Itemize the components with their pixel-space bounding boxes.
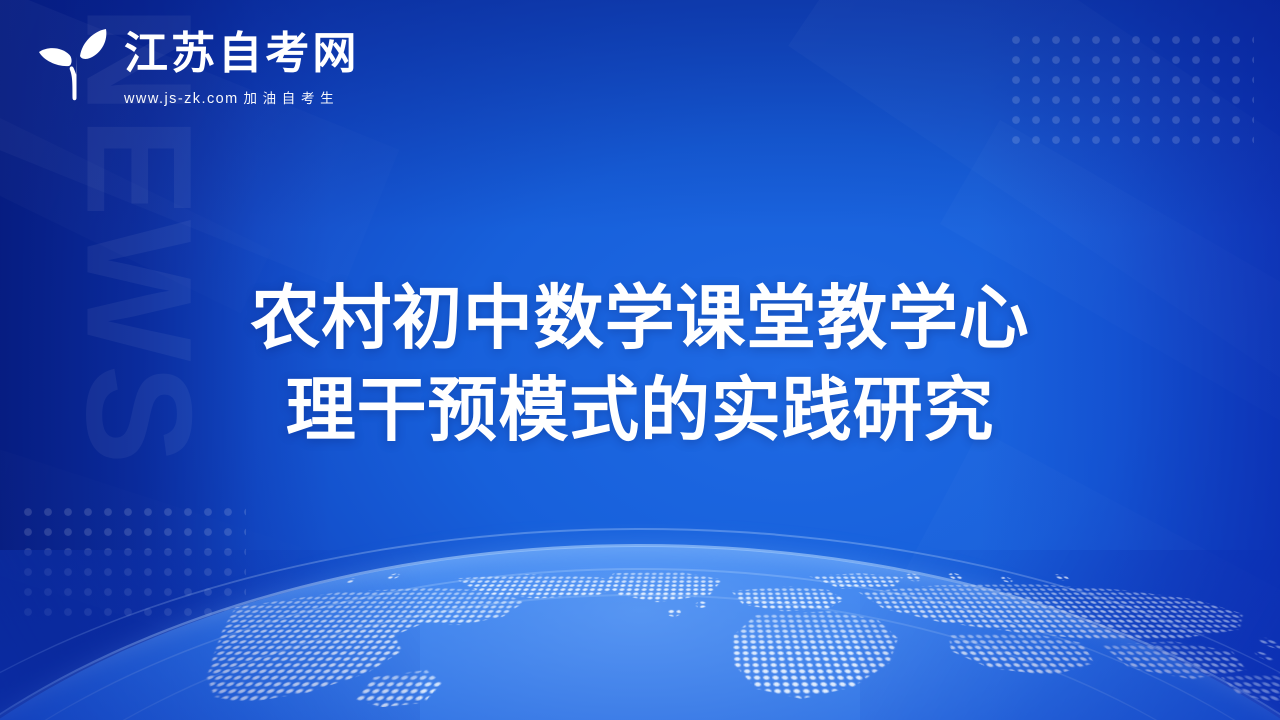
page-title-line-1: 农村初中数学课堂教学心 [120, 272, 1160, 364]
logo-title: 江苏自考网 [124, 31, 359, 78]
sprout-logo-icon [36, 26, 110, 104]
article-cover-banner: NEWS NEWS [0, 0, 1280, 720]
logo-subtitle: www.js-zk.com加油自考生 [124, 87, 359, 107]
logo-slogan: 加油自考生 [243, 91, 339, 106]
logo-text-block: 江苏自考网 www.js-zk.com加油自考生 [124, 26, 359, 107]
page-title-line-2: 理干预模式的实践研究 [120, 364, 1160, 456]
page-title: 农村初中数学课堂教学心 理干预模式的实践研究 [0, 272, 1280, 456]
logo-url: www.js-zk.com [124, 91, 239, 107]
site-logo[interactable]: 江苏自考网 www.js-zk.com加油自考生 [36, 26, 359, 107]
